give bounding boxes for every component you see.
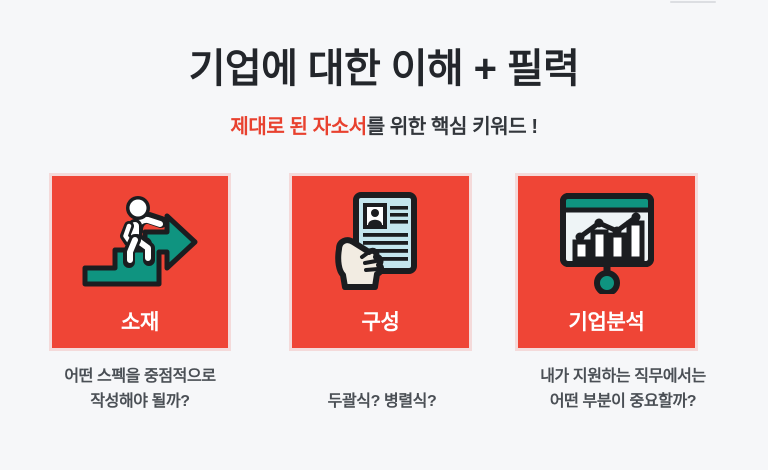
caption-line: 어떤 스펙을 중점적으로 [0, 364, 280, 389]
slide-canvas: 기업에 대한 이해 + 필력 제대로 된 자소서를 위한 핵심 키워드 ! [0, 0, 768, 470]
scrollbar-artifact [670, 1, 716, 3]
card-label-gieopbunseok: 기업분석 [518, 310, 695, 336]
page-subtitle: 제대로 된 자소서를 위한 핵심 키워드 ! [0, 114, 768, 140]
card-gieopbunseok[interactable]: 기업분석 [518, 176, 695, 348]
subtitle-rest-text: 를 위한 핵심 키워드 ! [367, 116, 538, 138]
caption-guseong: 두괄식? 병렬식? [272, 389, 492, 414]
caption-line: 작성해야 될까? [0, 389, 280, 414]
caption-line: 어떤 부분이 중요할까? [478, 389, 768, 414]
card-label-sojae: 소재 [52, 310, 228, 336]
caption-line: 내가 지원하는 직무에서는 [478, 364, 768, 389]
person-climbing-stairs-arrow-icon [52, 190, 228, 294]
caption-gieopbunseok: 내가 지원하는 직무에서는 어떤 부분이 중요할까? [478, 364, 768, 414]
caption-row: 어떤 스펙을 중점적으로 작성해야 될까? 두괄식? 병렬식? 내가 지원하는 … [0, 362, 768, 442]
card-label-guseong: 구성 [292, 310, 469, 336]
hand-holding-resume-icon [292, 190, 469, 294]
page-title: 기업에 대한 이해 + 필력 [0, 46, 768, 92]
card-guseong[interactable]: 구성 [292, 176, 469, 348]
caption-sojae: 어떤 스펙을 중점적으로 작성해야 될까? [0, 364, 280, 414]
card-row: 소재 [0, 176, 768, 348]
caption-line: 두괄식? 병렬식? [272, 389, 492, 414]
subtitle-accent-text: 제대로 된 자소서 [230, 116, 366, 138]
presentation-bar-chart-icon [518, 190, 695, 294]
card-sojae[interactable]: 소재 [52, 176, 228, 348]
